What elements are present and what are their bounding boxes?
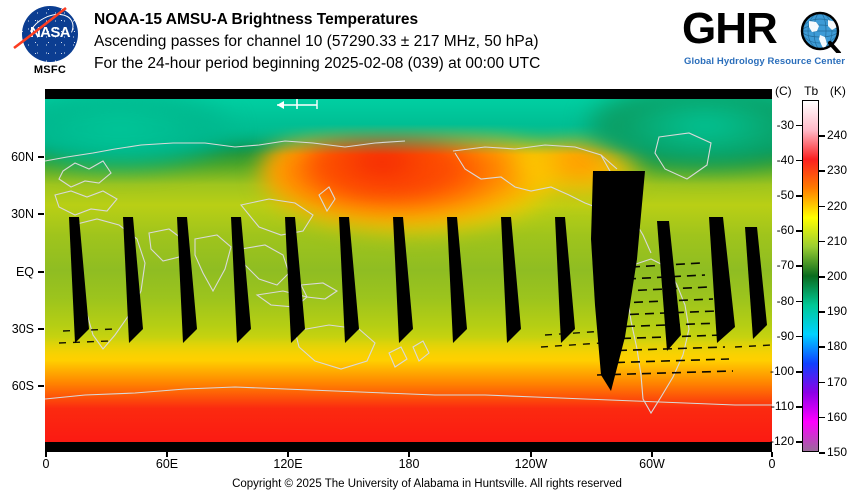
- colorbar-tick-celsius: [796, 371, 802, 373]
- colorbar-gradient: [802, 100, 819, 452]
- ghrc-wordmark: GHR: [682, 6, 777, 52]
- colorbar-tick-kelvin: [819, 276, 825, 278]
- colorbar-label-kelvin: 220: [827, 199, 847, 213]
- x-axis-label: 0: [43, 457, 50, 471]
- colorbar-label-kelvin: 190: [827, 304, 847, 318]
- colorbar-tick-celsius: [796, 265, 802, 267]
- colorbar-label-kelvin: 170: [827, 375, 847, 389]
- colorbar-label-celsius: -120: [762, 434, 794, 448]
- page-title: NOAA-15 AMSU-A Brightness Temperatures: [94, 9, 540, 31]
- y-tick: [38, 328, 44, 330]
- header: NASA MSFC NOAA-15 AMSU-A Brightness Temp…: [0, 0, 854, 88]
- y-axis-label: 60N: [0, 150, 34, 164]
- nasa-center-label: MSFC: [10, 64, 90, 76]
- colorbar-label-kelvin: 230: [827, 163, 847, 177]
- colorbar-tick-celsius: [796, 336, 802, 338]
- title-block: NOAA-15 AMSU-A Brightness Temperatures A…: [94, 9, 540, 75]
- colorbar-tick-kelvin: [819, 241, 825, 243]
- colorbar-tick-kelvin: [819, 382, 825, 384]
- colorbar-label-kelvin: 150: [827, 445, 847, 459]
- colorbar-tick-celsius: [796, 160, 802, 162]
- y-axis-label: 60S: [0, 379, 34, 393]
- colorbar-gradient-fill: [803, 101, 818, 451]
- nasa-swoosh-icon: [8, 2, 70, 62]
- colorbar-label-celsius: -70: [762, 258, 794, 272]
- x-axis-label: 60W: [639, 457, 665, 471]
- map-figure: [45, 89, 772, 452]
- y-tick: [38, 156, 44, 158]
- nasa-logo: NASA MSFC: [10, 4, 90, 84]
- scan-direction-arrow-icon: [273, 99, 321, 109]
- x-axis-label: 60E: [156, 457, 178, 471]
- colorbar-tick-kelvin: [819, 311, 825, 313]
- x-axis-label: 180: [399, 457, 420, 471]
- colorbar-tick-kelvin: [819, 452, 825, 454]
- colorbar-tick-kelvin: [819, 346, 825, 348]
- ghrc-tagline: Global Hydrology Resource Center: [684, 56, 845, 67]
- colorbar-tick-celsius: [796, 195, 802, 197]
- colorbar-tick-celsius: [796, 406, 802, 408]
- y-axis-label: EQ: [0, 265, 34, 279]
- copyright-notice: Copyright © 2025 The University of Alaba…: [0, 478, 854, 490]
- x-axis-label: 120E: [273, 457, 302, 471]
- colorbar-tick-celsius: [796, 125, 802, 127]
- colorbar-label-celsius: -80: [762, 294, 794, 308]
- colorbar-unit-celsius: (C): [775, 84, 792, 98]
- colorbar-tick-celsius: [796, 230, 802, 232]
- colorbar-label-kelvin: 200: [827, 269, 847, 283]
- colorbar-variable: Tb: [804, 84, 818, 98]
- colorbar-tick-celsius: [796, 301, 802, 303]
- y-tick: [38, 213, 44, 215]
- globe-icon: [800, 11, 842, 53]
- colorbar-tick-kelvin: [819, 135, 825, 137]
- colorbar-unit-kelvin: (K): [830, 84, 846, 98]
- colorbar-tick-kelvin: [819, 170, 825, 172]
- colorbar-tick-kelvin: [819, 206, 825, 208]
- colorbar-label-celsius: -90: [762, 329, 794, 343]
- colorbar-label-celsius: -40: [762, 153, 794, 167]
- colorbar-tick-celsius: [796, 441, 802, 443]
- page-subtitle: Ascending passes for channel 10 (57290.3…: [94, 31, 540, 53]
- colorbar-tick-kelvin: [819, 417, 825, 419]
- colorbar-label-celsius: -110: [762, 399, 794, 413]
- y-axis-label: 30S: [0, 322, 34, 336]
- orbital-swath-gaps: [45, 99, 772, 442]
- y-tick: [38, 385, 44, 387]
- ghrc-logo: GHR Global Hydrology Resource Center: [682, 6, 848, 78]
- colorbar-header: (C) Tb (K): [775, 84, 846, 98]
- colorbar-label-kelvin: 180: [827, 339, 847, 353]
- colorbar-label-celsius: -50: [762, 188, 794, 202]
- y-axis-label: 30N: [0, 207, 34, 221]
- map-plot-area: [45, 99, 772, 442]
- y-tick: [38, 271, 44, 273]
- colorbar-label-kelvin: 210: [827, 234, 847, 248]
- x-axis-label: 0: [769, 457, 776, 471]
- colorbar-label-kelvin: 160: [827, 410, 847, 424]
- colorbar-label-celsius: -100: [762, 364, 794, 378]
- colorbar-label-kelvin: 240: [827, 128, 847, 142]
- colorbar-label-celsius: -30: [762, 118, 794, 132]
- x-axis-label: 120W: [515, 457, 548, 471]
- page-period: For the 24-hour period beginning 2025-02…: [94, 53, 540, 75]
- colorbar-label-celsius: -60: [762, 223, 794, 237]
